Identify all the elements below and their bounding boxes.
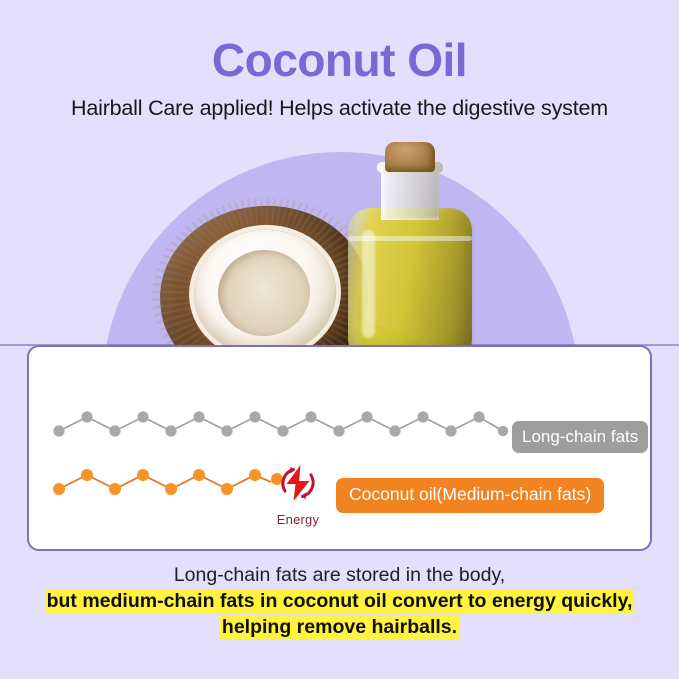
- page-title: Coconut Oil: [0, 36, 679, 84]
- footer-line-2: but medium-chain fats in coconut oil con…: [0, 588, 679, 614]
- footer-line-1: Long-chain fats are stored in the body,: [0, 562, 679, 588]
- cork-stopper: [385, 142, 435, 172]
- footer-text: Long-chain fats are stored in the body, …: [0, 562, 679, 640]
- product-photo: [150, 138, 540, 350]
- long-chain-fats-line: [51, 407, 511, 441]
- legend-badge-long-chain-fats: Long-chain fats: [512, 421, 648, 453]
- footer-line-3-highlight: helping remove hairballs.: [220, 615, 459, 640]
- legend-badge-coconut-oil: Coconut oil(Medium-chain fats): [336, 478, 604, 513]
- footer-line-2-highlight: but medium-chain fats in coconut oil con…: [45, 589, 635, 614]
- footer-line-3: helping remove hairballs.: [0, 614, 679, 640]
- medium-chain-fats-line: [51, 465, 291, 499]
- promo-infographic: Coconut Oil Hairball Care applied! Helps…: [0, 0, 679, 679]
- fat-chain-comparison-card: Energy Long-chain fats Coconut oil(Mediu…: [27, 345, 652, 551]
- page-subtitle: Hairball Care applied! Helps activate th…: [0, 96, 679, 121]
- energy-bolt-icon: [276, 461, 320, 505]
- energy-label: Energy: [268, 512, 328, 527]
- energy-indicator: Energy: [268, 461, 328, 527]
- hero-image: [0, 138, 679, 350]
- bottle-highlight: [362, 230, 375, 338]
